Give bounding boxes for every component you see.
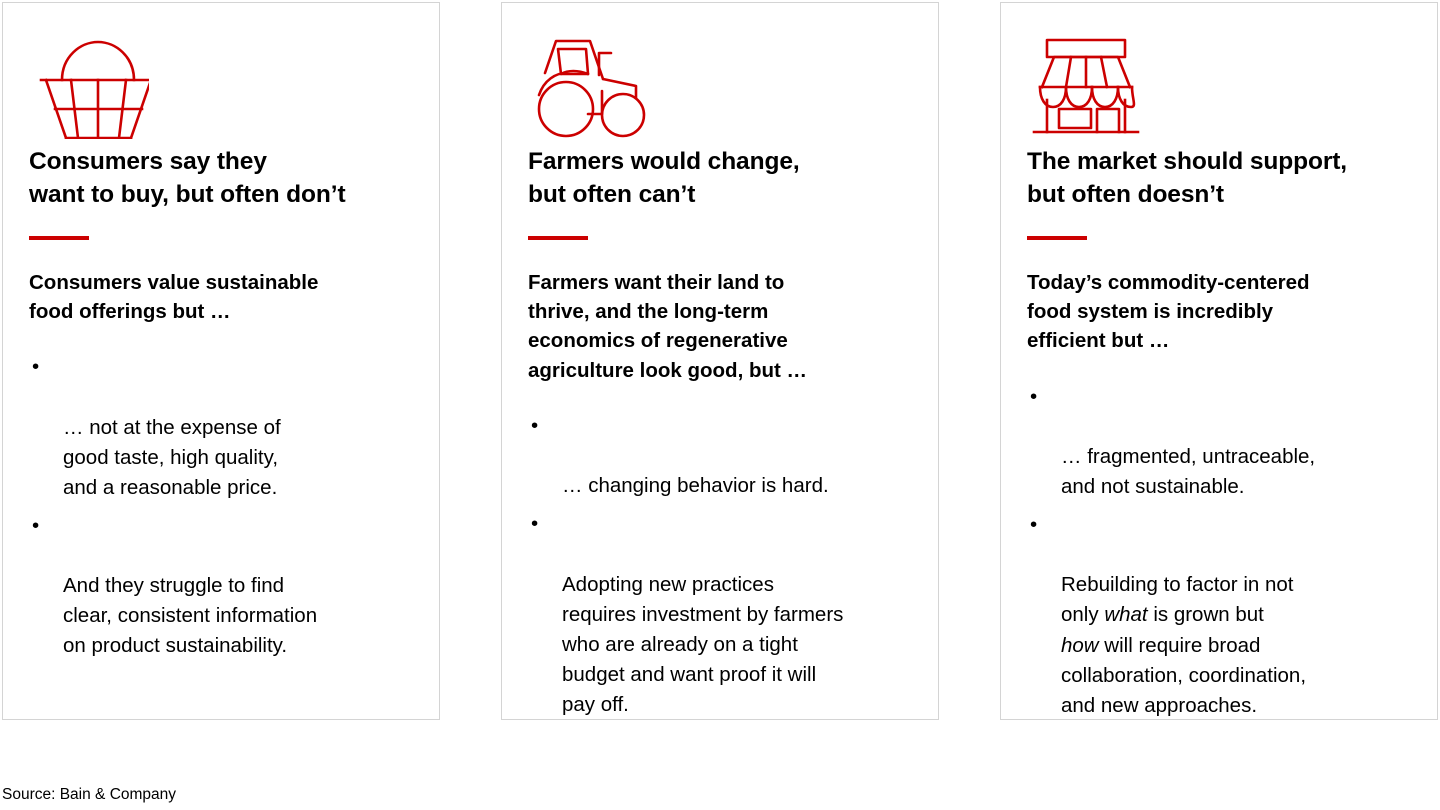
card-consumers: Consumers say they want to buy, but ofte… <box>2 2 440 720</box>
card-lead: Consumers value sustainable food offerin… <box>29 268 413 327</box>
card-lead: Today’s commodity-centered food system i… <box>1027 268 1411 356</box>
list-item-text: Adopting new practices requires investme… <box>562 573 843 717</box>
source-note: Source: Bain & Company <box>2 786 176 805</box>
bullet-marker: • <box>32 352 39 382</box>
list-item: • Rebuilding to factor in not only what … <box>1027 510 1411 721</box>
bullet-list: • … not at the expense of good taste, hi… <box>29 352 413 661</box>
bullet-marker: • <box>1030 382 1037 412</box>
storefront-icon <box>1027 29 1411 145</box>
bullet-list: • … fragmented, untraceable, and not sus… <box>1027 382 1411 721</box>
card-lead: Farmers want their land to thrive, and t… <box>528 268 912 385</box>
list-item-text: … not at the expense of good taste, high… <box>63 416 281 499</box>
list-item-text: And they struggle to find clear, consist… <box>63 574 317 657</box>
bullet-marker: • <box>531 411 538 441</box>
card-market: The market should support, but often doe… <box>1000 2 1438 720</box>
list-item-text: … changing behavior is hard. <box>562 474 829 497</box>
list-item-text: … fragmented, untraceable, and not susta… <box>1061 445 1315 498</box>
list-item: • … fragmented, untraceable, and not sus… <box>1027 382 1411 503</box>
list-item: • … changing behavior is hard. <box>528 411 912 501</box>
list-item: • And they struggle to find clear, consi… <box>29 511 413 662</box>
card-farmers: Farmers would change, but often can’t Fa… <box>501 2 939 720</box>
card-row: Consumers say they want to buy, but ofte… <box>2 2 1438 720</box>
bullet-marker: • <box>32 511 39 541</box>
accent-rule <box>29 236 89 240</box>
list-item-text: Rebuilding to factor in not only what is… <box>1061 573 1306 717</box>
accent-rule <box>1027 236 1087 240</box>
card-title: Farmers would change, but often can’t <box>528 145 912 212</box>
bullet-marker: • <box>531 509 538 539</box>
card-title: Consumers say they want to buy, but ofte… <box>29 145 413 212</box>
bullet-marker: • <box>1030 510 1037 540</box>
list-item: • Adopting new practices requires invest… <box>528 509 912 720</box>
accent-rule <box>528 236 588 240</box>
card-title: The market should support, but often doe… <box>1027 145 1411 212</box>
bullet-list: • … changing behavior is hard. • Adoptin… <box>528 411 912 720</box>
shopping-basket-icon <box>29 29 413 145</box>
tractor-icon <box>528 29 912 145</box>
list-item: • … not at the expense of good taste, hi… <box>29 352 413 503</box>
